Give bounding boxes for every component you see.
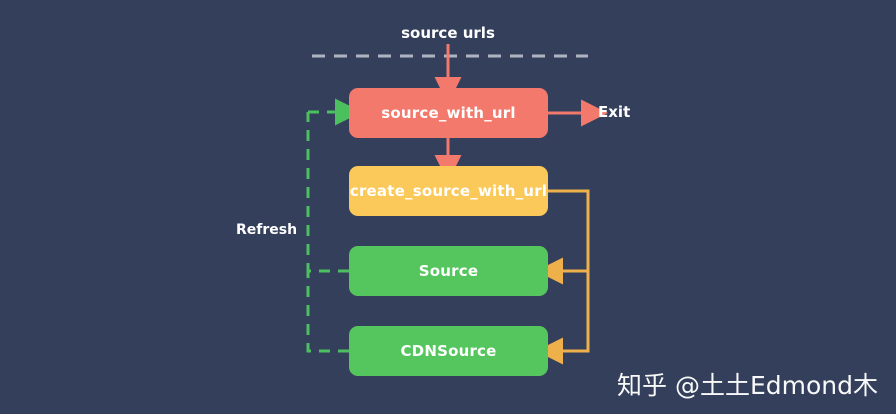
diagram-title: source urls [0, 24, 896, 42]
node-cdnsource-label: CDNSource [400, 342, 496, 360]
edge-label-refresh: Refresh [236, 222, 297, 238]
edge-create-to-source-orange [548, 191, 588, 271]
node-create-source-with-url[interactable]: create_source_with_url [349, 166, 548, 216]
node-source-label: Source [419, 262, 478, 280]
watermark: 知乎 @土土Edmond木 [617, 366, 878, 402]
node-create-source-with-url-label: create_source_with_url [350, 182, 547, 200]
edge-source-refresh-dashed [308, 112, 349, 271]
edge-label-exit: Exit [598, 103, 630, 121]
node-cdnsource[interactable]: CDNSource [349, 326, 548, 376]
edge-cdnsource-refresh-dashed [308, 271, 349, 351]
node-source-with-url-label: source_with_url [381, 104, 515, 122]
diagram-canvas: source urls source_with_url create_sourc… [0, 0, 896, 414]
node-source[interactable]: Source [349, 246, 548, 296]
node-source-with-url[interactable]: source_with_url [349, 88, 548, 138]
